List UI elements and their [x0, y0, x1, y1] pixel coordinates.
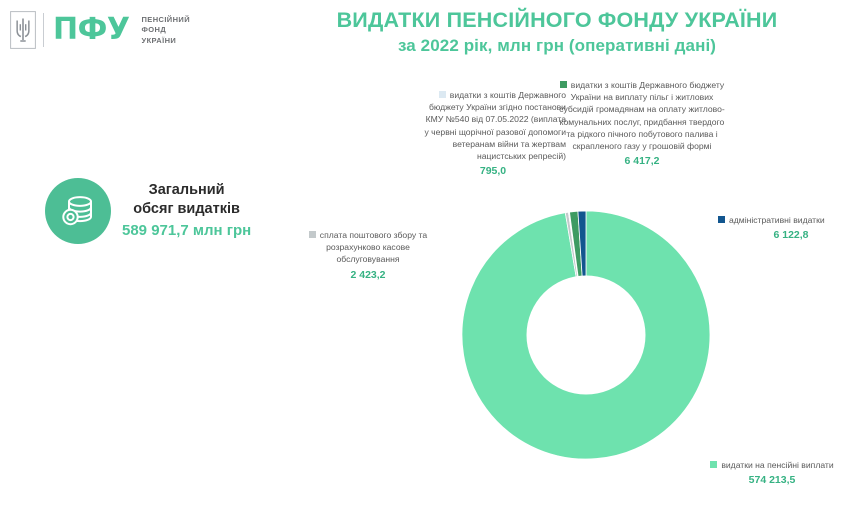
infographic-canvas: ПФУ Пенсійний фонд України ВИДАТКИ ПЕНСІ… [0, 0, 864, 514]
logo-word-3: України [142, 36, 191, 45]
legend-subsidies-text: видатки з коштів Державного бюджету Укра… [559, 80, 725, 151]
total-value: 589 971,7 млн грн [122, 221, 251, 241]
page-subtitle: за 2022 рік, млн грн (оперативні дані) [250, 36, 864, 56]
total-label-line2: обсяг видатків [133, 200, 240, 219]
legend-postal-row: сплата поштового збору та розрахунково к… [296, 229, 440, 266]
total-icon-circle [45, 178, 111, 244]
total-expenditures-badge: Загальний обсяг видатків 589 971,7 млн г… [45, 178, 251, 244]
legend-postal-text: сплата поштового збору та розрахунково к… [320, 230, 427, 264]
legend-swatch-pensions [710, 461, 717, 468]
total-label-line1: Загальний [149, 181, 225, 200]
logo-word-1: Пенсійний [142, 15, 191, 24]
legend-kmu540-value: 795,0 [420, 164, 566, 179]
page-title-block: ВИДАТКИ ПЕНСІЙНОГО ФОНДУ УКРАЇНИ за 2022… [250, 8, 864, 57]
legend-pensions-row: видатки на пенсійні виплати [680, 459, 864, 471]
total-text-block: Загальний обсяг видатків 589 971,7 млн г… [122, 181, 251, 241]
legend-subsidies-row: видатки з коштів Державного бюджету Укра… [556, 79, 728, 152]
legend-admin-row: адміністративні видатки [718, 214, 864, 226]
legend-item-subsidies[interactable]: видатки з коштів Державного бюджету Укра… [556, 79, 728, 169]
legend-pensions-value: 574 213,5 [680, 473, 864, 488]
legend-item-kmu540[interactable]: видатки з коштів Державного бюджету Укра… [420, 89, 566, 179]
logo-divider [43, 13, 44, 47]
legend-item-postal[interactable]: сплата поштового збору та розрахунково к… [296, 229, 440, 283]
logo-wordmark: Пенсійний фонд України [142, 15, 191, 45]
legend-swatch-kmu540 [439, 91, 446, 98]
pfu-logo: ПФУ Пенсійний фонд України [10, 8, 190, 52]
legend-subsidies-value: 6 417,2 [556, 154, 728, 169]
donut-hole [527, 276, 646, 395]
legend-item-pensions[interactable]: видатки на пенсійні виплати 574 213,5 [680, 459, 864, 488]
logo-abbrev: ПФУ [53, 15, 130, 45]
page-title: ВИДАТКИ ПЕНСІЙНОГО ФОНДУ УКРАЇНИ [250, 8, 864, 33]
legend-pensions-text: видатки на пенсійні виплати [721, 460, 833, 470]
legend-swatch-admin [718, 216, 725, 223]
expenditures-donut-chart [462, 211, 710, 459]
legend-kmu540-row: видатки з коштів Державного бюджету Укра… [420, 89, 566, 162]
legend-admin-value: 6 122,8 [718, 228, 864, 243]
legend-item-admin[interactable]: адміністративні видатки 6 122,8 [718, 214, 864, 243]
legend-swatch-subsidies [560, 81, 567, 88]
logo-word-2: фонд [142, 25, 191, 34]
ukraine-trident-icon [10, 11, 36, 49]
legend-admin-text: адміністративні видатки [729, 215, 825, 225]
legend-swatch-postal [309, 231, 316, 238]
legend-postal-value: 2 423,2 [296, 268, 440, 283]
coins-stack-icon [59, 193, 97, 229]
legend-kmu540-text: видатки з коштів Державного бюджету Укра… [424, 90, 566, 161]
